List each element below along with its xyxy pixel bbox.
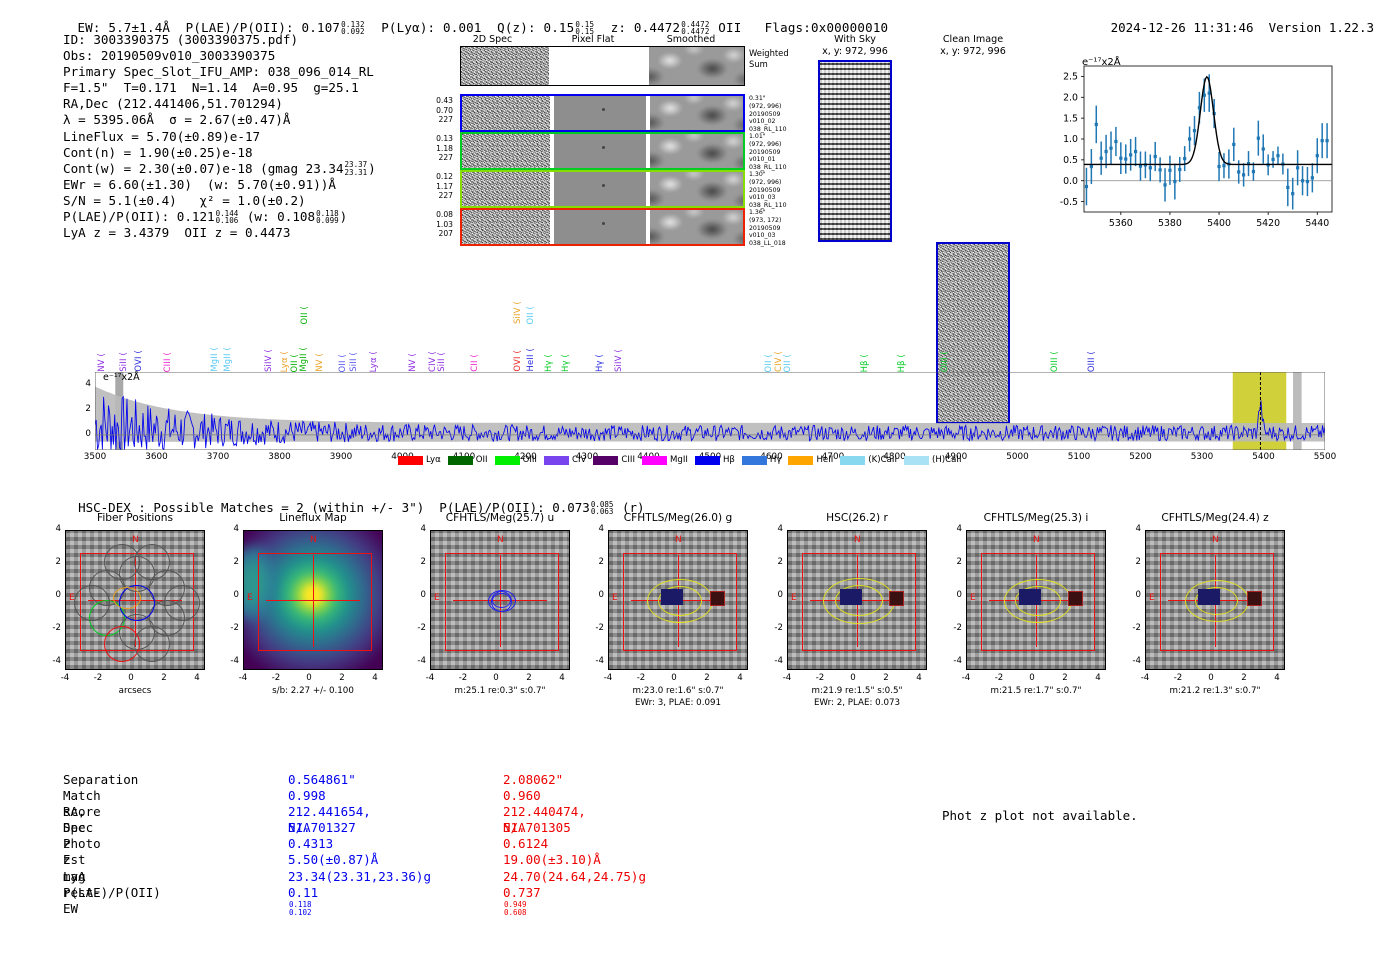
cutout-y-tick: 0 <box>219 590 239 600</box>
emission-line-label: OVI ( <box>512 350 522 372</box>
cutout-caption: m:21.9 re:1.5" s:0.5" <box>759 686 955 697</box>
line-profile-annotation: e⁻¹⁷x2Å <box>1082 57 1121 68</box>
exposure-meta: 0.31" <box>749 95 787 103</box>
compass-north-label: N <box>310 535 317 545</box>
emission-line-label: CII ( <box>469 354 479 372</box>
cutout-x-tick: -2 <box>810 673 830 683</box>
match1-photo-z: 0.4313 <box>288 836 333 852</box>
emission-line-label: OIII ( <box>1049 351 1059 372</box>
cutout-x-tick: 4 <box>552 673 572 683</box>
exposure-right-metadata: 1.01"(972, 996)20190509v010_01038_RL_110 <box>749 133 787 172</box>
compass-east-label: E <box>434 593 440 603</box>
exposure-meta: (972, 996) <box>749 179 787 187</box>
spec2d-title-2dspec: 2D Spec <box>455 34 530 45</box>
compass-north-label: N <box>132 535 139 545</box>
info-obs: Obs: 20190509v010_3003390375 <box>63 48 376 64</box>
cutout-y-tick: -2 <box>1121 623 1141 633</box>
spectrum-svg <box>95 372 1325 450</box>
legend-swatch <box>742 456 767 465</box>
cutout-y-tick: 0 <box>1121 590 1141 600</box>
spectrum-x-tick: 5300 <box>1184 452 1220 462</box>
exposure-metric: 1.03 <box>415 220 453 230</box>
emission-line-label: Hβ ( <box>859 354 869 372</box>
cutout-x-tick: 0 <box>1201 673 1221 683</box>
cutout-x-tick: -2 <box>453 673 473 683</box>
exposure-meta: (972, 996) <box>749 103 787 111</box>
emission-line-label: SiIV ( <box>263 349 273 372</box>
exposure-meta: v010_03 <box>749 232 786 240</box>
exposure-meta: 1.30" <box>749 171 787 179</box>
spectrum-y-tick: 4 <box>77 379 91 389</box>
cutout-image[interactable]: NE <box>243 530 383 670</box>
cutout-y-tick: -4 <box>584 656 604 666</box>
compass-north-label: N <box>675 535 682 545</box>
info-plae-w-errors: 0.1180.099 <box>316 210 339 225</box>
exposure-smoothed-image <box>650 172 743 206</box>
spectrum-y-ticks: 024 <box>77 372 93 450</box>
cutout-y-tick: -4 <box>41 656 61 666</box>
cutout-y-tick: 0 <box>763 590 783 600</box>
svg-text:5420: 5420 <box>1256 218 1280 229</box>
cutout-y-tick: 2 <box>584 557 604 567</box>
weighted-sum-pixelflat-image <box>549 47 645 85</box>
header-plya: P(Lyα): 0.001 <box>381 20 481 35</box>
emission-line-label: SiII ( <box>436 352 446 372</box>
match2-plae-errors: 0.9490.608 <box>504 901 527 916</box>
legend-swatch <box>593 456 618 465</box>
exposure-metric: 0.13 <box>415 134 453 144</box>
cutout-secondary-source <box>1068 591 1083 606</box>
cutout-image[interactable]: NE <box>608 530 748 670</box>
cutout-y-tick: -2 <box>763 623 783 633</box>
exposure-metric: 227 <box>415 153 453 163</box>
cutout-caption: m:21.5 re:1.7" s:0.7" <box>938 686 1134 697</box>
info-redshifts: LyA z = 3.4379 OII z = 0.4473 <box>63 225 376 241</box>
exposure-pixelflat-image <box>554 210 646 244</box>
compass-north-label: N <box>1212 535 1219 545</box>
cutout-y-tick: -2 <box>584 623 604 633</box>
spec2d-titles: 2D Spec Pixel Flat Smoothed <box>455 34 755 46</box>
exposure-right-metadata: 1.30"(972, 996)20190509v010_03038_RL_110 <box>749 171 787 210</box>
info-cont-n: Cont(n) = 1.90(±0.25)e-18 <box>63 145 376 161</box>
with-sky-image <box>818 60 892 242</box>
cutout-title: CFHTLS/Meg(25.7) u <box>408 512 592 524</box>
legend-swatch <box>642 456 667 465</box>
emission-line-label: NV ( <box>314 353 324 372</box>
cutout-source-marker <box>840 589 862 605</box>
emission-line-label: Hγ ( <box>543 354 553 372</box>
cutout-image[interactable]: NE <box>966 530 1106 670</box>
legend-swatch <box>788 456 813 465</box>
header-flags: Flags:0x00000010 <box>765 20 889 35</box>
cutout-y-tick: -2 <box>41 623 61 633</box>
legend-label: Hγ <box>770 455 782 465</box>
spectrum-x-tick: 3900 <box>323 452 359 462</box>
exposure-metric: 0.12 <box>415 172 453 182</box>
legend-label: Lyα <box>426 455 441 465</box>
cutout-x-tick: 4 <box>730 673 750 683</box>
legend-item: OIII <box>495 455 537 465</box>
exposure-metric: 1.17 <box>415 182 453 192</box>
emission-line-label: OIII ( <box>939 351 949 372</box>
legend-swatch <box>398 456 423 465</box>
cutout-title: HSC(26.2) r <box>765 512 949 524</box>
with-sky-title: With Sky x, y: 972, 996 <box>800 34 910 57</box>
cutout-source-marker <box>1019 589 1041 605</box>
cutout-y-tick: 4 <box>942 524 962 534</box>
spec2d-exposure-row <box>460 132 745 170</box>
spec2d-exposure-row <box>460 94 745 132</box>
cutout-x-tick: 2 <box>697 673 717 683</box>
spec2d-panel-group: 2D Spec Pixel Flat Smoothed Weighted Sum… <box>455 34 755 46</box>
svg-text:1.5: 1.5 <box>1063 113 1078 124</box>
cutout-y-tick: 0 <box>41 590 61 600</box>
exposure-pixelflat-image <box>554 172 646 206</box>
cutout-x-tick: 0 <box>664 673 684 683</box>
exposure-right-metadata: 1.36"(973, 172)20190509v010_03038_LL_018 <box>749 209 786 248</box>
cutout-y-tick: 0 <box>584 590 604 600</box>
cutout-title: CFHTLS/Meg(24.4) z <box>1123 512 1307 524</box>
emission-line-label: OII ( <box>299 306 309 324</box>
photz-unavailable-message: Phot z plot not available. <box>942 808 1138 823</box>
legend-item: CIII <box>593 455 635 465</box>
cutout-caption: m:25.1 re:0.3" s:0.7" <box>402 686 598 697</box>
legend-swatch <box>840 456 865 465</box>
info-plae: P(LAE)/P(OII): 0.1210.1440.106 (w: 0.108… <box>63 209 376 225</box>
spectrum-x-tick: 5500 <box>1307 452 1343 462</box>
cutout-image[interactable]: NE <box>787 530 927 670</box>
legend-item: Hβ <box>695 455 735 465</box>
cutout-crosshair-v <box>313 555 314 647</box>
emission-line-label: Hγ ( <box>594 354 604 372</box>
emission-line-label: OII ( <box>525 306 535 324</box>
emission-line-label: SiIV ( <box>613 349 623 372</box>
exposure-2dspec-image <box>462 96 550 130</box>
cutout-x-tick: 4 <box>909 673 929 683</box>
exposure-left-metrics: 0.121.17227 <box>415 172 453 201</box>
svg-text:1.0: 1.0 <box>1063 134 1078 145</box>
match1-plae: 0.110.1180.102 <box>288 885 318 917</box>
legend-label: (H)CaII <box>932 455 962 465</box>
spectrum-x-tick: 3600 <box>139 452 175 462</box>
cutout-y-tick: -2 <box>219 623 239 633</box>
info-id: ID: 3003390375 (3003390375.pdf) <box>63 32 376 48</box>
cutout-x-tick: 0 <box>486 673 506 683</box>
info-wavelength-sigma: λ = 5395.06Å σ = 2.67(±0.47)Å <box>63 112 376 128</box>
cutout-caption-secondary: EWr: 3, PLAE: 0.091 <box>580 698 776 709</box>
match1-score: 0.998 <box>288 788 326 804</box>
cutout-x-tick: -2 <box>989 673 1009 683</box>
legend-item: HeII <box>788 455 833 465</box>
spectrum-x-tick: 5200 <box>1123 452 1159 462</box>
match1-separation: 0.564861" <box>288 772 356 788</box>
exposure-meta: 1.01" <box>749 133 787 141</box>
info-ewr: EWr = 6.60(±1.30) (w: 5.70(±0.91))Å <box>63 177 376 193</box>
cutout-y-tick: 4 <box>219 524 239 534</box>
legend-label: OII <box>476 455 488 465</box>
emission-line-label: HeII ( <box>525 348 535 372</box>
svg-text:2.5: 2.5 <box>1063 72 1078 83</box>
cutout-title: Fiber Positions <box>43 512 227 524</box>
svg-text:5380: 5380 <box>1158 218 1182 229</box>
cutout-x-tick: 2 <box>1234 673 1254 683</box>
match2-separation: 2.08062" <box>503 772 563 788</box>
exposure-2dspec-image <box>462 172 550 206</box>
exposure-meta: (972, 996) <box>749 141 787 149</box>
cutout-x-tick: 2 <box>332 673 352 683</box>
cutout-x-tick: 4 <box>1088 673 1108 683</box>
exposure-pixelflat-image <box>554 96 646 130</box>
legend-label: HeII <box>816 455 833 465</box>
info-radec: RA,Dec (212.441406,51.701294) <box>63 96 376 112</box>
cutout-y-tick: 4 <box>763 524 783 534</box>
match2-plae: 0.7370.9490.608 <box>503 885 541 917</box>
weighted-sum-smoothed-image <box>649 47 744 85</box>
cutout-title: CFHTLS/Meg(26.0) g <box>586 512 770 524</box>
legend-item: Hγ <box>742 455 782 465</box>
cutout-image[interactable]: NE <box>65 530 205 670</box>
cutout-y-tick: -2 <box>406 623 426 633</box>
compass-east-label: E <box>612 593 618 603</box>
legend-item: (K)CaII <box>840 455 897 465</box>
cutout-image[interactable]: NE <box>1145 530 1285 670</box>
emission-line-label: MgII ( <box>209 347 219 372</box>
cutout-y-tick: 2 <box>942 557 962 567</box>
spectrum-x-tick: 3800 <box>262 452 298 462</box>
emission-line-label: OIII ( <box>1086 351 1096 372</box>
info-primary-spec-slot: Primary Spec_Slot_IFU_AMP: 038_096_014_R… <box>63 64 376 80</box>
cutout-y-tick: -2 <box>942 623 962 633</box>
legend-swatch <box>695 456 720 465</box>
fiber-circle <box>74 585 110 621</box>
cutout-y-tick: 2 <box>1121 557 1141 567</box>
header-z-value: 0.4472 <box>634 20 680 35</box>
line-profile-chart: -0.50.00.51.01.52.02.5536053805400542054… <box>1040 54 1340 234</box>
exposure-metric: 0.08 <box>415 210 453 220</box>
info-sn-chi2: S/N = 5.1(±0.4) χ² = 1.0(±0.2) <box>63 193 376 209</box>
exposure-metric: 0.43 <box>415 96 453 106</box>
spec2d-title-smoothed: Smoothed <box>651 34 731 45</box>
emission-line-label: OII ( <box>782 354 792 372</box>
compass-east-label: E <box>970 593 976 603</box>
cutout-red-box <box>258 553 372 651</box>
match2-spec-z: N/A <box>503 820 526 836</box>
clean-image-title: Clean Image x, y: 972, 996 <box>915 34 1031 57</box>
header-qz-value: 0.15 <box>543 20 574 35</box>
exposure-meta: 20190509 <box>749 111 787 119</box>
full-spectrum-chart: NV (SiII (OVI (CIII (MgII (MgII (SiIV (L… <box>95 278 1325 468</box>
legend-swatch <box>495 456 520 465</box>
weighted-sum-2dspec-image <box>461 47 549 85</box>
cutout-x-tick: 2 <box>876 673 896 683</box>
emission-line-label: Lyα ( <box>368 351 378 372</box>
cutout-x-tick: 4 <box>365 673 385 683</box>
cutout-x-tick: -2 <box>266 673 286 683</box>
compass-north-label: N <box>854 535 861 545</box>
sky-clean-image-group: With Sky x, y: 972, 996 Clean Image x, y… <box>0 0 74 364</box>
exposure-meta: (973, 172) <box>749 217 786 225</box>
cutout-x-tick: -2 <box>1168 673 1188 683</box>
emission-line-label: NV ( <box>407 353 417 372</box>
match1-mag: 23.34(23.31,23.36)g <box>288 869 431 885</box>
cutout-y-tick: 0 <box>942 590 962 600</box>
cutout-x-tick: -4 <box>420 673 440 683</box>
legend-label: Hβ <box>723 455 735 465</box>
exposure-meta: v010_02 <box>749 118 787 126</box>
cutout-x-tick: 0 <box>843 673 863 683</box>
source-info-block: ID: 3003390375 (3003390375.pdf) Obs: 201… <box>63 32 376 241</box>
cutout-x-tick: -4 <box>55 673 75 683</box>
exposure-meta: v010_03 <box>749 194 787 202</box>
match1-spec-z: N/A <box>288 820 311 836</box>
row-label-mag: mag <box>63 869 86 885</box>
cutout-caption: arcsecs <box>37 686 233 697</box>
spec2d-exposure-row <box>460 170 745 208</box>
cutout-secondary-source <box>1247 591 1262 606</box>
row-label-plae: P(LAE)/P(OII) <box>63 885 161 901</box>
exposure-meta: 038_LL_018 <box>749 240 786 248</box>
spectrum-x-tick: 5100 <box>1061 452 1097 462</box>
cutout-caption: s/b: 2.27 +/- 0.100 <box>215 686 411 697</box>
emission-line-label: NV ( <box>96 353 106 372</box>
cutout-title: CFHTLS/Meg(25.3) i <box>944 512 1128 524</box>
cutout-y-tick: -4 <box>406 656 426 666</box>
exposure-smoothed-image <box>650 96 743 130</box>
cutout-y-tick: 4 <box>584 524 604 534</box>
info-lineflux: LineFlux = 5.70(±0.89)e-17 <box>63 129 376 145</box>
exposure-meta: 1.36" <box>749 209 786 217</box>
spectrum-y-tick: 2 <box>77 404 91 414</box>
exposure-2dspec-image <box>462 210 550 244</box>
exposure-metric: 0.70 <box>415 106 453 116</box>
exposure-2dspec-image <box>462 134 550 168</box>
cutout-y-tick: 2 <box>41 557 61 567</box>
timestamp-version: 2024-12-26 11:31:46 Version 1.22.3 <box>1096 5 1374 35</box>
cutout-secondary-source <box>710 591 725 606</box>
compass-east-label: E <box>1149 593 1155 603</box>
timestamp: 2024-12-26 11:31:46 <box>1111 20 1254 35</box>
cutout-image[interactable]: NE <box>430 530 570 670</box>
cutout-x-tick: 2 <box>519 673 539 683</box>
emission-line-labels: NV (SiII (OVI (CIII (MgII (MgII (SiIV (L… <box>95 278 1325 372</box>
emission-line-label: MgII ( <box>298 347 308 372</box>
fiber-circle <box>164 585 200 621</box>
svg-text:-0.5: -0.5 <box>1060 197 1078 208</box>
legend-item: MgII <box>642 455 688 465</box>
match2-score: 0.960 <box>503 788 541 804</box>
match2-photo-z: 0.6124 <box>503 836 548 852</box>
cutout-y-tick: 2 <box>406 557 426 567</box>
cutout-secondary-source <box>889 591 904 606</box>
match2-mag: 24.70(24.64,24.75)g <box>503 869 646 885</box>
fiber-aperture <box>113 587 141 609</box>
compass-east-label: E <box>791 593 797 603</box>
cutout-caption-secondary: EWr: 2, PLAE: 0.073 <box>759 698 955 709</box>
row-label-separation: Separation <box>63 772 138 788</box>
info-plae-errors: 0.1440.106 <box>216 210 239 225</box>
cutout-y-tick: 4 <box>406 524 426 534</box>
cutout-x-tick: 4 <box>187 673 207 683</box>
spectrum-annotation: e⁻¹⁷x2Å <box>103 372 140 383</box>
header-z-label: z: <box>611 20 626 35</box>
svg-text:2.0: 2.0 <box>1063 92 1078 103</box>
exposure-left-metrics: 0.131.18227 <box>415 134 453 163</box>
match1-est-lya-ew: 5.50(±0.87)Å <box>288 852 378 868</box>
cutout-x-tick: -4 <box>1135 673 1155 683</box>
cutout-y-tick: 4 <box>41 524 61 534</box>
legend-label: CIV <box>572 455 586 465</box>
compass-east-label: E <box>247 593 253 603</box>
exposure-metric: 1.18 <box>415 144 453 154</box>
cutout-x-tick: 2 <box>1055 673 1075 683</box>
spec2d-exposure-row <box>460 208 745 246</box>
emission-line-label: Lyα ( <box>279 351 289 372</box>
exposure-smoothed-image <box>650 210 743 244</box>
emission-line-label: MgII ( <box>222 347 232 372</box>
cutout-x-tick: -4 <box>956 673 976 683</box>
emission-line-label: Hγ ( <box>560 354 570 372</box>
match2-est-lya-ew: 19.00(±3.10)Å <box>503 852 601 868</box>
emission-line-label: OVI ( <box>133 350 143 372</box>
emission-line-label: SiII ( <box>348 352 358 372</box>
spec2d-title-pixelflat: Pixel Flat <box>553 34 633 45</box>
svg-text:5400: 5400 <box>1207 218 1231 229</box>
legend-item: OII <box>448 455 488 465</box>
header-qz-label: Q(z): <box>497 20 536 35</box>
legend-item: Lyα <box>398 455 441 465</box>
cutout-x-tick: 0 <box>299 673 319 683</box>
cutout-caption: m:23.0 re:1.6" s:0.7" <box>580 686 776 697</box>
legend-swatch <box>448 456 473 465</box>
spectrum-x-tick: 5000 <box>1000 452 1036 462</box>
exposure-pixelflat-image <box>554 134 646 168</box>
exposure-smoothed-image <box>650 134 743 168</box>
cutout-x-tick: -4 <box>777 673 797 683</box>
exposure-meta: 20190509 <box>749 149 787 157</box>
cutout-x-tick: 4 <box>1267 673 1287 683</box>
cutout-y-tick: 0 <box>406 590 426 600</box>
cutout-x-tick: -4 <box>598 673 618 683</box>
cutout-x-tick: 0 <box>121 673 141 683</box>
weighted-sum-row <box>460 46 745 86</box>
emission-line-label: OII ( <box>763 354 773 372</box>
cutout-y-tick: -4 <box>219 656 239 666</box>
cutout-x-tick: 2 <box>154 673 174 683</box>
info-cont-w-errors: 23.3723.31 <box>345 161 368 176</box>
legend-label: MgII <box>670 455 688 465</box>
legend-item: CIV <box>544 455 586 465</box>
weighted-sum-label: Weighted Sum <box>749 48 789 69</box>
exposure-meta: 20190509 <box>749 187 787 195</box>
fiber-circle <box>134 544 170 580</box>
cutout-x-tick: 0 <box>1022 673 1042 683</box>
emission-line-label: OII ( <box>337 354 347 372</box>
cutout-y-tick: 4 <box>1121 524 1141 534</box>
cutout-caption: m:21.2 re:1.3" s:0.7" <box>1117 686 1313 697</box>
emission-line-label: CIII ( <box>162 352 172 372</box>
exposure-metric: 227 <box>415 115 453 125</box>
svg-text:5440: 5440 <box>1305 218 1329 229</box>
legend-label: (K)CaII <box>868 455 897 465</box>
spectrum-x-tick: 5400 <box>1246 452 1282 462</box>
cutout-panel-row: Fiber PositionsNE420-2-4-4-2024arcsecsLi… <box>0 512 1400 732</box>
legend-label: CIII <box>621 455 635 465</box>
cutout-y-tick: 2 <box>763 557 783 567</box>
exposure-right-metadata: 0.31"(972, 996)20190509v010_02038_RL_110 <box>749 95 787 134</box>
svg-text:5360: 5360 <box>1109 218 1133 229</box>
line-profile-svg: -0.50.00.51.01.52.02.5536053805400542054… <box>1040 54 1340 249</box>
compass-north-label: N <box>497 535 504 545</box>
